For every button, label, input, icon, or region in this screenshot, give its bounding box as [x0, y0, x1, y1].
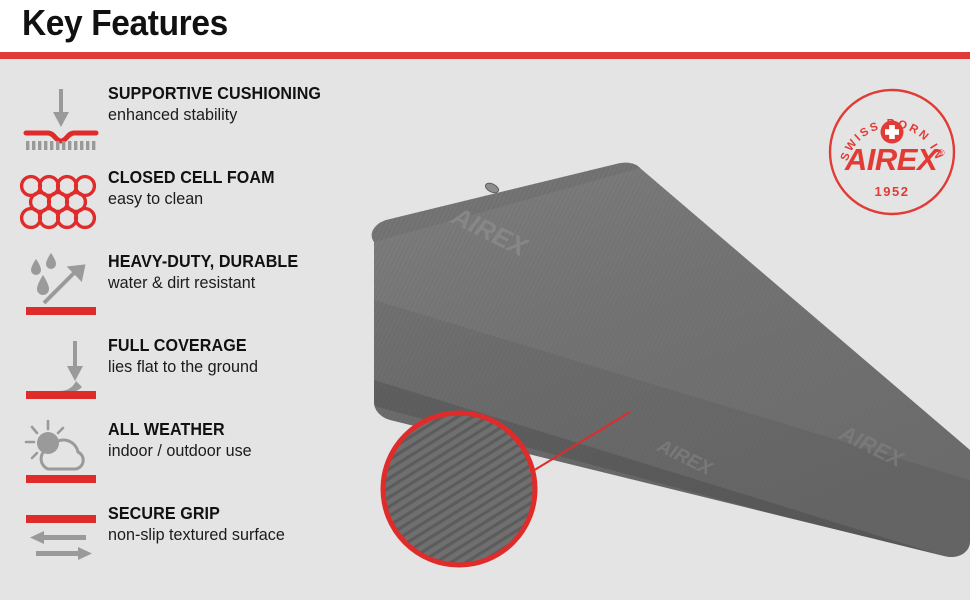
- lies-flat-icon: [18, 335, 104, 407]
- feature-subtitle: enhanced stability: [108, 104, 384, 126]
- key-features-infographic: Key Features: [0, 0, 970, 600]
- grip-arrows-icon: [18, 503, 104, 575]
- feature-text-block: SUPPORTIVE CUSHIONING enhanced stability: [108, 83, 398, 126]
- closed-cell-foam-icon: [18, 167, 104, 239]
- page-title: Key Features: [22, 2, 228, 44]
- mat-eyelet-hole: [484, 181, 500, 194]
- airex-logo-badge: SWISS BORN IN AIREX ® 1952: [826, 86, 958, 218]
- badge-year-text: 1952: [875, 184, 910, 199]
- cushion-press-icon: [18, 83, 104, 155]
- badge-trademark-symbol: ®: [938, 148, 945, 158]
- sun-cloud-icon: [18, 419, 104, 491]
- header-accent-rule: [0, 52, 970, 59]
- swiss-cross-icon: [881, 121, 904, 144]
- header-bar: Key Features: [0, 0, 970, 52]
- surface-texture-magnifier: [378, 408, 540, 570]
- badge-brand-text: AIREX: [844, 142, 940, 177]
- feature-title: SUPPORTIVE CUSHIONING: [108, 83, 375, 103]
- water-repellent-icon: [18, 251, 104, 323]
